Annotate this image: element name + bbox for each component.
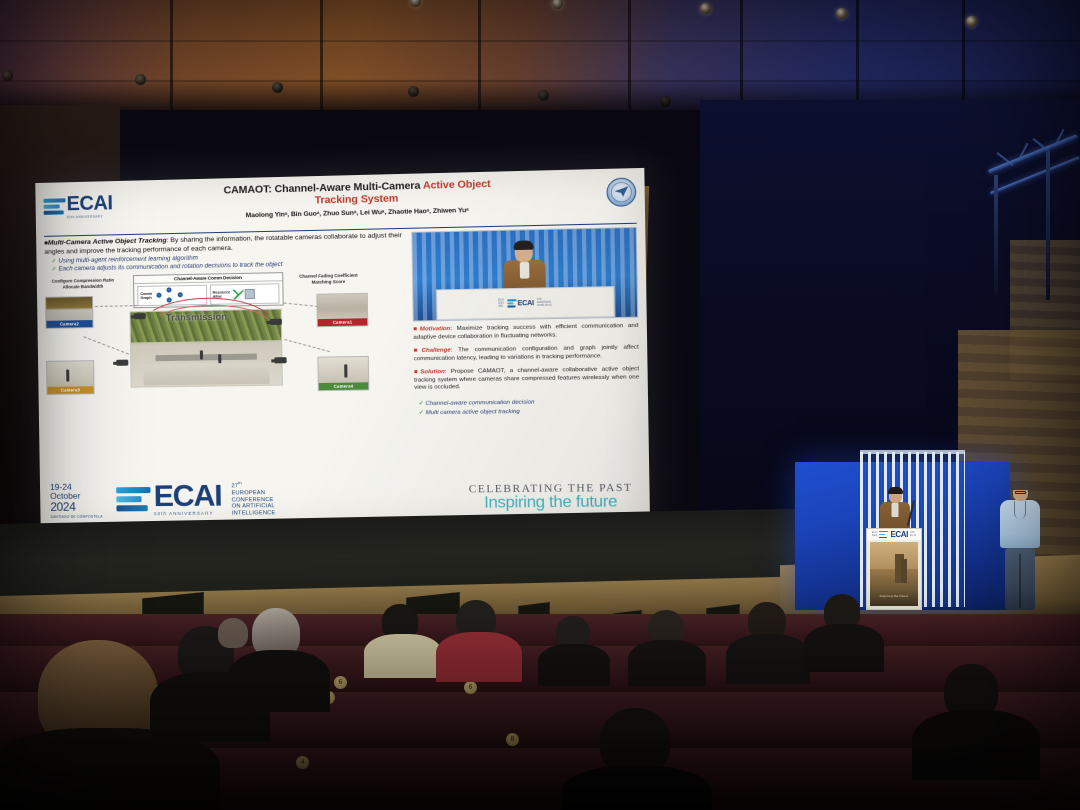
- camera-icon: [274, 358, 286, 364]
- tagline-bottom: Inspiring the future: [469, 493, 633, 513]
- right-check-item: ✓ Multi camera active object tracking: [419, 406, 640, 418]
- figure-caption-right-line2: Matching Score: [312, 279, 346, 285]
- camera-icon: [134, 314, 146, 320]
- right-check-label: Multi camera active object tracking: [426, 409, 520, 416]
- slide-content: ECAI 50th ANNIVERSARY CAMAOT: Channel-Aw…: [35, 168, 650, 531]
- video-podium: ECAI2024SDC ECAI 27thEUROPEANCONF ON AI: [436, 287, 615, 321]
- seat-number: 6: [464, 681, 477, 694]
- right-block-label: Motivation: [420, 326, 451, 333]
- camera-icon: [270, 319, 282, 325]
- ecai-mark-icon: [43, 197, 65, 217]
- right-block-label: Solution: [420, 369, 445, 375]
- audience-shoulders: [562, 766, 712, 810]
- auditorium-scene: ECAI 50th ANNIVERSARY CAMAOT: Channel-Aw…: [0, 0, 1080, 810]
- figure-caption-right: Channel Fading Coefficient Matching Scor…: [289, 273, 367, 286]
- podium-ecai-word: ECAI: [890, 530, 908, 539]
- video-podium-word: ECAI: [517, 300, 533, 307]
- audience-shoulders: [804, 624, 884, 672]
- figure-caption-left-line2: Allocate Bandwidth: [62, 284, 103, 290]
- ceiling-spotlight: [836, 8, 847, 19]
- ceiling-spotlight: [552, 0, 563, 9]
- camera-thumbnail: Camera4: [317, 356, 369, 391]
- comm-graph-label: Comm Graph: [140, 292, 152, 301]
- audience-shoulders: [628, 640, 706, 686]
- footer-edition-ordinal: th: [238, 480, 242, 485]
- university-seal-icon: [606, 177, 636, 207]
- footer-city: SANTIAGO DE COMPOSTELA: [50, 514, 102, 518]
- slide-title-highlight-2: Tracking System: [315, 194, 399, 207]
- projection-screen: ECAI 50th ANNIVERSARY CAMAOT: Channel-Aw…: [35, 168, 650, 531]
- ceiling-spotlight: [700, 3, 711, 14]
- camera-label: Camera1: [318, 319, 368, 327]
- audience-shoulders: [726, 634, 810, 684]
- podium-ecai-mark-icon: [507, 300, 517, 308]
- right-block: ■Solution: Propose CAMAOT, a channel-awa…: [414, 366, 639, 393]
- camera-thumbnail: Camera3: [46, 361, 95, 396]
- audience-area: 2 4 4 6 6 6 8 8: [0, 588, 1080, 810]
- architecture-figure: Configure Compression Ratio Allocate Ban…: [45, 270, 406, 401]
- footer-ecai-anniv: 50th ANNIVERSARY: [154, 511, 222, 517]
- footer-tagline: CELEBRATING THE PAST Inspiring the futur…: [469, 481, 640, 512]
- right-block: ■Motivation: Maximize tracking success w…: [413, 323, 638, 343]
- audience-head: [600, 708, 670, 774]
- footer-dates: 19-24 October 2024 SANTIAGO DE COMPOSTEL…: [50, 483, 103, 519]
- lighting-truss: [985, 118, 1080, 198]
- seat-number: 6: [334, 676, 347, 689]
- footer-year: 2024: [50, 501, 102, 514]
- camera-label: Camera3: [47, 387, 93, 395]
- ceiling-spotlight: [966, 16, 977, 27]
- slide-title-highlight-1: Active Object: [423, 179, 491, 192]
- audience-shoulders: [436, 632, 522, 682]
- lanyard: [1014, 501, 1026, 519]
- bandwidth-icon: [232, 290, 243, 300]
- audience-shoulders: [228, 650, 330, 712]
- glasses-icon: [1015, 491, 1026, 494]
- seat-number: 8: [506, 733, 519, 746]
- footer-ecai-word: ECAI: [153, 483, 221, 510]
- ceiling-spotlight: [410, 0, 421, 7]
- camera-label: Camera2: [46, 321, 92, 329]
- ecai-logo-subtitle: 50th ANNIVERSARY: [67, 214, 113, 219]
- audience-shoulders: [364, 634, 442, 678]
- right-block-label: Challenge: [421, 348, 450, 355]
- podium-ecai-mark-icon: [879, 531, 888, 539]
- footer-conference-name: 27th EUROPEAN CONFERENCE ON ARTIFICIAL I…: [231, 481, 275, 518]
- audience-shoulders: [912, 710, 1040, 780]
- rigging-pole: [1046, 150, 1050, 300]
- resource-grid-icon: [245, 289, 255, 299]
- figure-caption-left: Configure Compression Ratio Allocate Ban…: [47, 278, 119, 290]
- transmission-label: Transmission: [166, 312, 227, 323]
- right-check-label: Channel-aware communication decision: [425, 400, 534, 408]
- presenter-video-inset: ECAI2024SDC ECAI 27thEUROPEANCONF ON AI: [412, 227, 639, 322]
- ecai-logo-word: ECAI: [66, 193, 112, 214]
- right-block: ■Challenge: The communication configurat…: [414, 345, 639, 365]
- camera-label: Camera4: [319, 383, 369, 391]
- rigging-pole: [994, 175, 998, 295]
- right-block-text: : Propose CAMAOT, a channel-aware collab…: [414, 366, 639, 391]
- seat-number: 4: [296, 756, 309, 769]
- slide-ecai-logo: ECAI 50th ANNIVERSARY: [43, 187, 112, 220]
- footer-ecai-mark-icon: [116, 486, 151, 514]
- footer-ecai-logo: ECAI 50th ANNIVERSARY 27th EUROPEAN CONF…: [116, 481, 275, 519]
- audience-head: [218, 618, 248, 648]
- camera-thumbnail: ⚠ degraded Camera1: [316, 293, 368, 327]
- camera-thumbnail: Camera2: [45, 296, 94, 329]
- audience-shoulders: [538, 644, 610, 686]
- camera-icon: [116, 360, 128, 366]
